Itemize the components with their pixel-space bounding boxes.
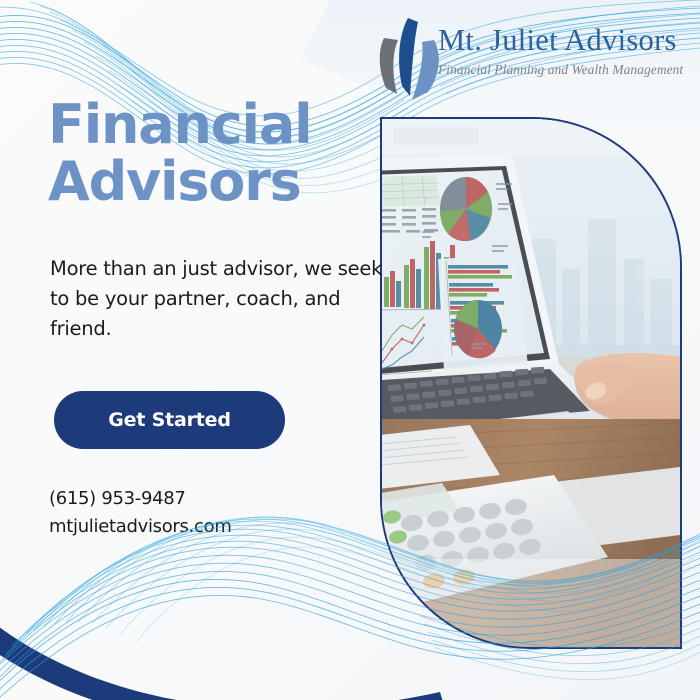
contact-block: (615) 953-9487 mtjulietadvisors.com xyxy=(49,485,368,541)
headline-line-2: Advisors xyxy=(48,150,301,213)
phone-number[interactable]: (615) 953-9487 xyxy=(49,485,368,513)
page-title: Financial Advisors xyxy=(48,96,368,210)
hero-photo-frame xyxy=(380,117,682,649)
hero-text-column: Financial Advisors More than an just adv… xyxy=(48,96,368,541)
laptop-charts-photo xyxy=(382,119,680,647)
website-url[interactable]: mtjulietadvisors.com xyxy=(49,513,368,541)
three-leaf-mark xyxy=(372,16,448,106)
logo-wordmark-block: Mt. Juliet Advisors Financial Planning a… xyxy=(438,24,696,78)
brand-logo: Mt. Juliet Advisors Financial Planning a… xyxy=(372,16,692,108)
logo-tagline: Financial Planning and Wealth Management xyxy=(438,62,696,78)
hero-subheading: More than an just advisor, we seek to be… xyxy=(50,254,390,343)
hero-photo xyxy=(382,119,680,647)
get-started-button[interactable]: Get Started xyxy=(54,391,285,449)
headline-line-1: Financial xyxy=(48,93,311,156)
logo-company-name: Mt. Juliet Advisors xyxy=(438,24,696,56)
poster-canvas: Mt. Juliet Advisors Financial Planning a… xyxy=(0,0,700,700)
